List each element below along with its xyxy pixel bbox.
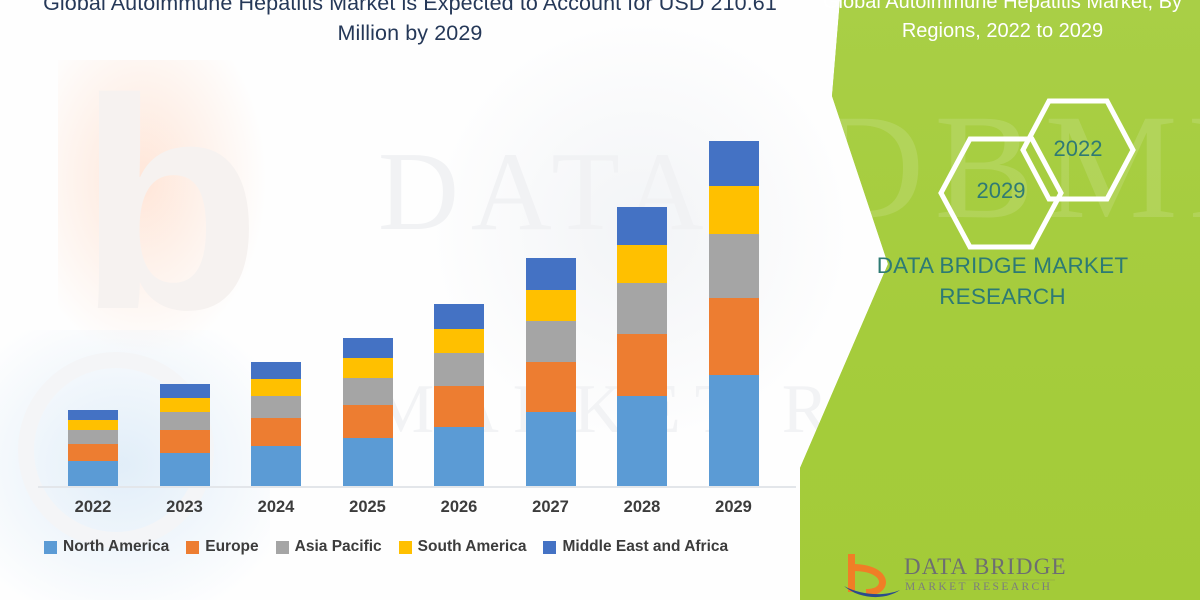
x-label-2023: 2023 — [145, 498, 225, 517]
bar-segment-middle-east-and-africa — [709, 141, 759, 186]
bar-segment-europe — [251, 418, 301, 446]
bar-segment-middle-east-and-africa — [160, 384, 210, 398]
bar-segment-asia-pacific — [343, 378, 393, 405]
legend-label: Europe — [205, 538, 258, 556]
bar-2028 — [617, 207, 667, 486]
logo-mark-icon — [842, 552, 902, 600]
bar-segment-middle-east-and-africa — [526, 258, 576, 289]
infographic-root: b DATA BRIDGE MARKET RESEARCH Global Aut… — [0, 0, 1200, 600]
bar-2026 — [434, 304, 484, 486]
bar-2025 — [343, 338, 393, 486]
bar-segment-south-america — [709, 186, 759, 233]
legend-item-south-america[interactable]: South America — [399, 538, 527, 556]
bar-segment-north-america — [343, 438, 393, 486]
bar-segment-europe — [709, 298, 759, 375]
bar-segment-europe — [343, 405, 393, 438]
bar-segment-asia-pacific — [526, 321, 576, 362]
bar-segment-south-america — [526, 290, 576, 321]
chart-legend: North AmericaEuropeAsia PacificSouth Ame… — [44, 538, 804, 556]
bar-segment-asia-pacific — [68, 430, 118, 444]
legend-swatch-icon — [543, 541, 556, 554]
legend-swatch-icon — [186, 541, 199, 554]
bar-segment-south-america — [343, 358, 393, 378]
bar-segment-north-america — [526, 412, 576, 486]
branding-panel: DBMR Global Autoimmune Hepatitis Market,… — [800, 0, 1200, 600]
brand-name: DATA BRIDGE MARKET RESEARCH — [820, 250, 1185, 312]
bar-segment-asia-pacific — [251, 396, 301, 418]
bar-segment-europe — [434, 386, 484, 427]
brand-line-1: DATA BRIDGE MARKET — [820, 250, 1185, 281]
data-bridge-logo: DATA BRIDGE MARKET RESEARCH — [842, 552, 1172, 600]
bar-segment-europe — [526, 362, 576, 413]
bar-segment-north-america — [160, 453, 210, 486]
hexagon-2029: 2029 — [938, 136, 1064, 250]
x-label-2027: 2027 — [511, 498, 591, 517]
bar-segment-europe — [617, 334, 667, 396]
bar-segment-asia-pacific — [434, 353, 484, 386]
brand-line-2: RESEARCH — [820, 281, 1185, 312]
logo-wordmark: DATA BRIDGE — [904, 554, 1067, 580]
bar-segment-middle-east-and-africa — [434, 304, 484, 329]
legend-swatch-icon — [276, 541, 289, 554]
bar-segment-middle-east-and-africa — [68, 410, 118, 420]
legend-label: Middle East and Africa — [562, 538, 728, 556]
bar-segment-middle-east-and-africa — [343, 338, 393, 358]
bar-segment-europe — [160, 430, 210, 453]
x-label-2025: 2025 — [328, 498, 408, 517]
bar-segment-middle-east-and-africa — [617, 207, 667, 245]
x-axis-line — [38, 486, 796, 488]
legend-item-middle-east-and-africa[interactable]: Middle East and Africa — [543, 538, 728, 556]
bar-segment-europe — [68, 444, 118, 461]
bar-segment-middle-east-and-africa — [251, 362, 301, 379]
bar-segment-asia-pacific — [160, 412, 210, 430]
x-label-2026: 2026 — [419, 498, 499, 517]
hexagon-2029-label: 2029 — [938, 178, 1064, 204]
legend-swatch-icon — [44, 541, 57, 554]
legend-label: Asia Pacific — [295, 538, 382, 556]
bar-segment-asia-pacific — [709, 234, 759, 298]
legend-label: South America — [418, 538, 527, 556]
logo-tagline: MARKET RESEARCH — [905, 581, 1052, 593]
bar-segment-south-america — [251, 379, 301, 396]
legend-item-asia-pacific[interactable]: Asia Pacific — [276, 538, 382, 556]
legend-swatch-icon — [399, 541, 412, 554]
bar-segment-north-america — [68, 461, 118, 486]
bar-segment-south-america — [617, 245, 667, 283]
bar-2029 — [709, 141, 759, 486]
plot-area: 20222023202420252026202720282029 — [0, 0, 880, 600]
chart-panel: b DATA BRIDGE MARKET RESEARCH Global Aut… — [0, 0, 880, 600]
bar-segment-south-america — [68, 420, 118, 430]
x-label-2022: 2022 — [53, 498, 133, 517]
bar-segment-south-america — [434, 329, 484, 354]
hexagon-group: 2022 2029 — [828, 96, 1178, 236]
x-label-2029: 2029 — [694, 498, 774, 517]
bar-segment-north-america — [434, 427, 484, 486]
legend-label: North America — [63, 538, 169, 556]
legend-item-north-america[interactable]: North America — [44, 538, 169, 556]
bar-2027 — [526, 258, 576, 486]
bar-segment-north-america — [251, 446, 301, 486]
x-label-2028: 2028 — [602, 498, 682, 517]
x-label-2024: 2024 — [236, 498, 316, 517]
bar-2022 — [68, 410, 118, 486]
bar-2023 — [160, 384, 210, 486]
bar-segment-north-america — [709, 375, 759, 486]
bar-segment-north-america — [617, 396, 667, 486]
bar-2024 — [251, 362, 301, 486]
bar-segment-asia-pacific — [617, 283, 667, 334]
legend-item-europe[interactable]: Europe — [186, 538, 258, 556]
bar-segment-south-america — [160, 398, 210, 412]
branding-panel-title: Global Autoimmune Hepatitis Market, By R… — [820, 0, 1185, 46]
